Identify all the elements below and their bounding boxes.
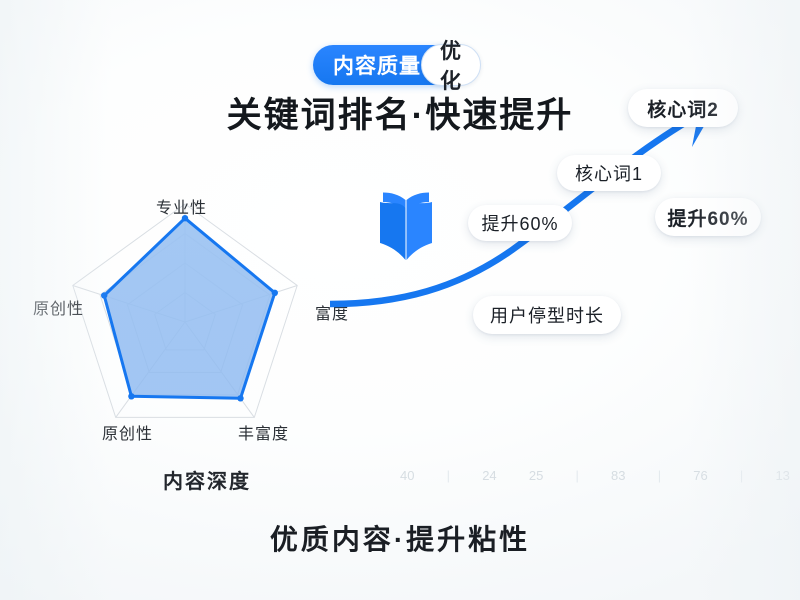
radar-axis-label-top: 专业性 [156, 194, 207, 218]
poster-canvas: 内容质量 优化 关键词排名·快速提升 优质内容·提升粘性 内容深度 [0, 0, 800, 600]
radar-chart: 专业性 富度 丰富度 原创性 原创性 [20, 200, 350, 460]
badge-secondary-label: 优化 [421, 44, 481, 86]
radar-data-area [104, 218, 275, 398]
axis-tick-5: 13 [775, 468, 789, 483]
footer-title: 优质内容·提升粘性 [0, 518, 800, 558]
axis-tick-4: 76 [693, 468, 707, 483]
axis-tick-0: 40 [400, 468, 414, 483]
radar-axis-label-bottom-right: 丰富度 [238, 420, 289, 444]
axis-tick-separator: | [658, 468, 661, 483]
axis-tick-separator: | [740, 468, 743, 483]
open-book-icon [372, 186, 440, 264]
callout-dwell-time[interactable]: 用户停型时长 [473, 296, 621, 334]
radar-axis-label-left: 原创性 [33, 295, 84, 319]
axis-tick-2: 25 [529, 468, 543, 483]
axis-tick-3: 83 [611, 468, 625, 483]
callout-core-keyword-2[interactable]: 核心词2 [628, 89, 738, 127]
radar-chart-svg [20, 200, 350, 460]
axis-tick-1: 24 [482, 468, 496, 483]
callout-core-keyword-1[interactable]: 核心词1 [557, 155, 661, 191]
callout-uplift-left[interactable]: 提升60% [468, 205, 572, 241]
radar-axis-label-bottom-left: 原创性 [102, 420, 153, 444]
axis-tick-separator: | [575, 468, 578, 483]
axis-tick-row: 40 | 24 25 | 83 | 76 | 13 [400, 462, 790, 488]
axis-tick-separator: | [447, 468, 450, 483]
quality-badge: 内容质量 优化 [313, 44, 463, 86]
content-depth-label: 内容深度 [163, 465, 251, 494]
callout-uplift-right[interactable]: 提升60% [655, 198, 761, 236]
